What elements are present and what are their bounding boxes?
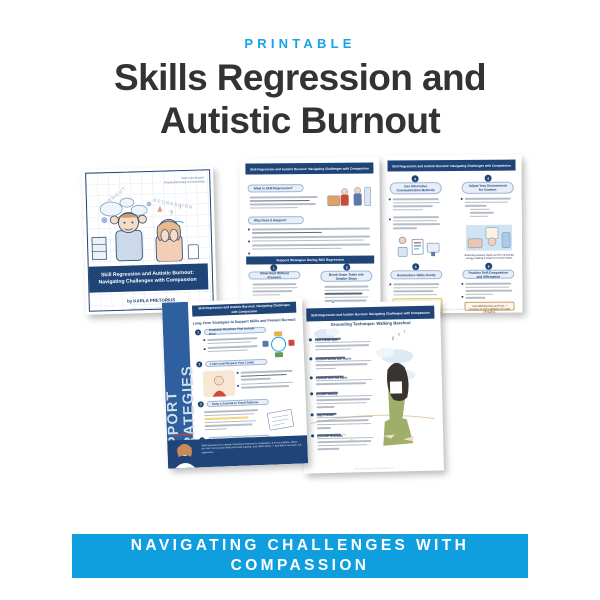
page-title: Skills Regression and Autistic Burnout [0,56,600,142]
page-header-band: Skill Regression and Autistic Burnout: N… [388,160,515,172]
item-body-1 [207,337,260,354]
section-band-support-strategies: Support Strategies During Skill Regressi… [246,255,373,264]
svg-text:z: z [392,335,395,341]
illustration-journal [266,408,297,431]
remember-block: REMEMBER Skill regression is a natural, … [167,435,308,469]
illustration-person-remember [171,441,198,468]
card-title-2: Break Down Tasks into Smaller Steps [320,270,372,281]
illustration-routine-wheel [261,331,296,358]
card-number-2: 2 [343,264,350,271]
page-header-band: Skill Regression and Autistic Burnout: N… [246,162,373,174]
card-title-4: Adjust Your Environment for Comfort [462,182,514,194]
section-body-what-is [250,196,320,211]
worksheet-cover-page[interactable]: Neurodivergent Psychotherapy & Coaching … [82,166,217,315]
worksheet-page-skill-regression[interactable]: Skill Regression and Autistic Burnout: N… [239,157,380,316]
grounding-step-2-title: Remove Shoes and Socks [315,356,351,361]
grounding-step-3-title: Connect with the Earth [316,376,348,381]
section-heading-why: Why Does It Happen? [248,216,304,224]
illustration-communication [396,233,442,257]
card-body-3 [393,198,441,231]
grounding-step-6-title: End with Gratitude [317,434,343,439]
section-heading-what-is: What is Skill Regression? [248,184,304,192]
card-number-4: 4 [485,175,492,182]
illustration-limits [203,370,236,397]
item-title-2: Learn and Respect Your Limits [205,359,267,367]
worksheet-page-long-term[interactable]: SUPPORT STRATEGIES Skill Regression and … [162,297,308,468]
title-line-1: Skills Regression and [114,57,486,98]
card-number-5: 5 [412,263,419,270]
grounding-step-4-title: Breathe Deeply [316,392,337,396]
item-title-1: Establish Routines That Include Rest [204,327,266,335]
svg-text:!: ! [180,205,182,211]
page-header-band: Skill Regression and Autistic Burnout: N… [307,306,435,321]
remember-text: Skill regression is a natural, temporary… [201,440,301,453]
long-term-title: Long-Term Strategies to Support Skills a… [193,318,297,326]
cover-title: Skill Regression and Autistic Burnout: N… [87,263,209,293]
svg-text:z: z [404,329,406,333]
card-body-5 [393,283,441,298]
mockup-canvas: PRINTABLE Skills Regression and Autistic… [0,0,600,600]
page-footer: www.neurodivergent-psychotherapy.com [304,466,444,471]
item-title-3: Keep a Journal to Track Patterns [207,399,269,407]
card-body-1 [252,283,298,298]
grounding-step-5-title: Stay Present [317,413,335,417]
card-body-4 [465,198,513,220]
section-body-why [252,227,372,251]
caption-4: Reducing sensory input can free up menta… [464,254,514,261]
card-title-1: Allow Rest Without Pressure [248,271,300,279]
worksheet-page-strategies-grid[interactable]: Skill Regression and Autistic Burnout: N… [381,155,522,314]
card-number-1: 1 [270,264,277,271]
svg-text:?: ? [169,210,173,217]
card-number-3: 3 [412,175,419,182]
card-title-3: Use Alternative Communication Methods [390,182,442,194]
brand-logo: Neurodivergent Psychotherapy & Coaching [164,175,204,184]
card-title-5: Reintroduce Skills Gently [390,270,442,279]
card-body-6 [465,283,513,301]
item-number-2: 2 [196,361,202,367]
svg-text:z: z [398,331,400,336]
title-line-2: Autistic Burnout [160,100,440,141]
illustration-support [326,183,372,209]
item-number-3: 3 [198,401,204,407]
card-number-6: 6 [485,263,492,270]
item-body-2 [241,370,296,391]
kicker-label: PRINTABLE [0,36,600,51]
illustration-calm-room [466,225,512,251]
bottom-banner: NAVIGATING CHALLENGES WITH COMPASSION [72,534,528,578]
illustration-overwhelm: ? ! [87,184,214,263]
page-header-band: Skill Regression and Autistic Burnout: N… [192,302,296,317]
worksheet-page-grounding[interactable]: Skill Regression and Autistic Burnout: N… [300,300,444,473]
grounding-step-1-title: Find a Safe Spot [315,338,338,343]
item-body-3 [204,409,261,433]
card-title-6: Practice Self-Compassion and Affirmation [462,270,514,279]
item-number-1: 1 [195,329,201,335]
